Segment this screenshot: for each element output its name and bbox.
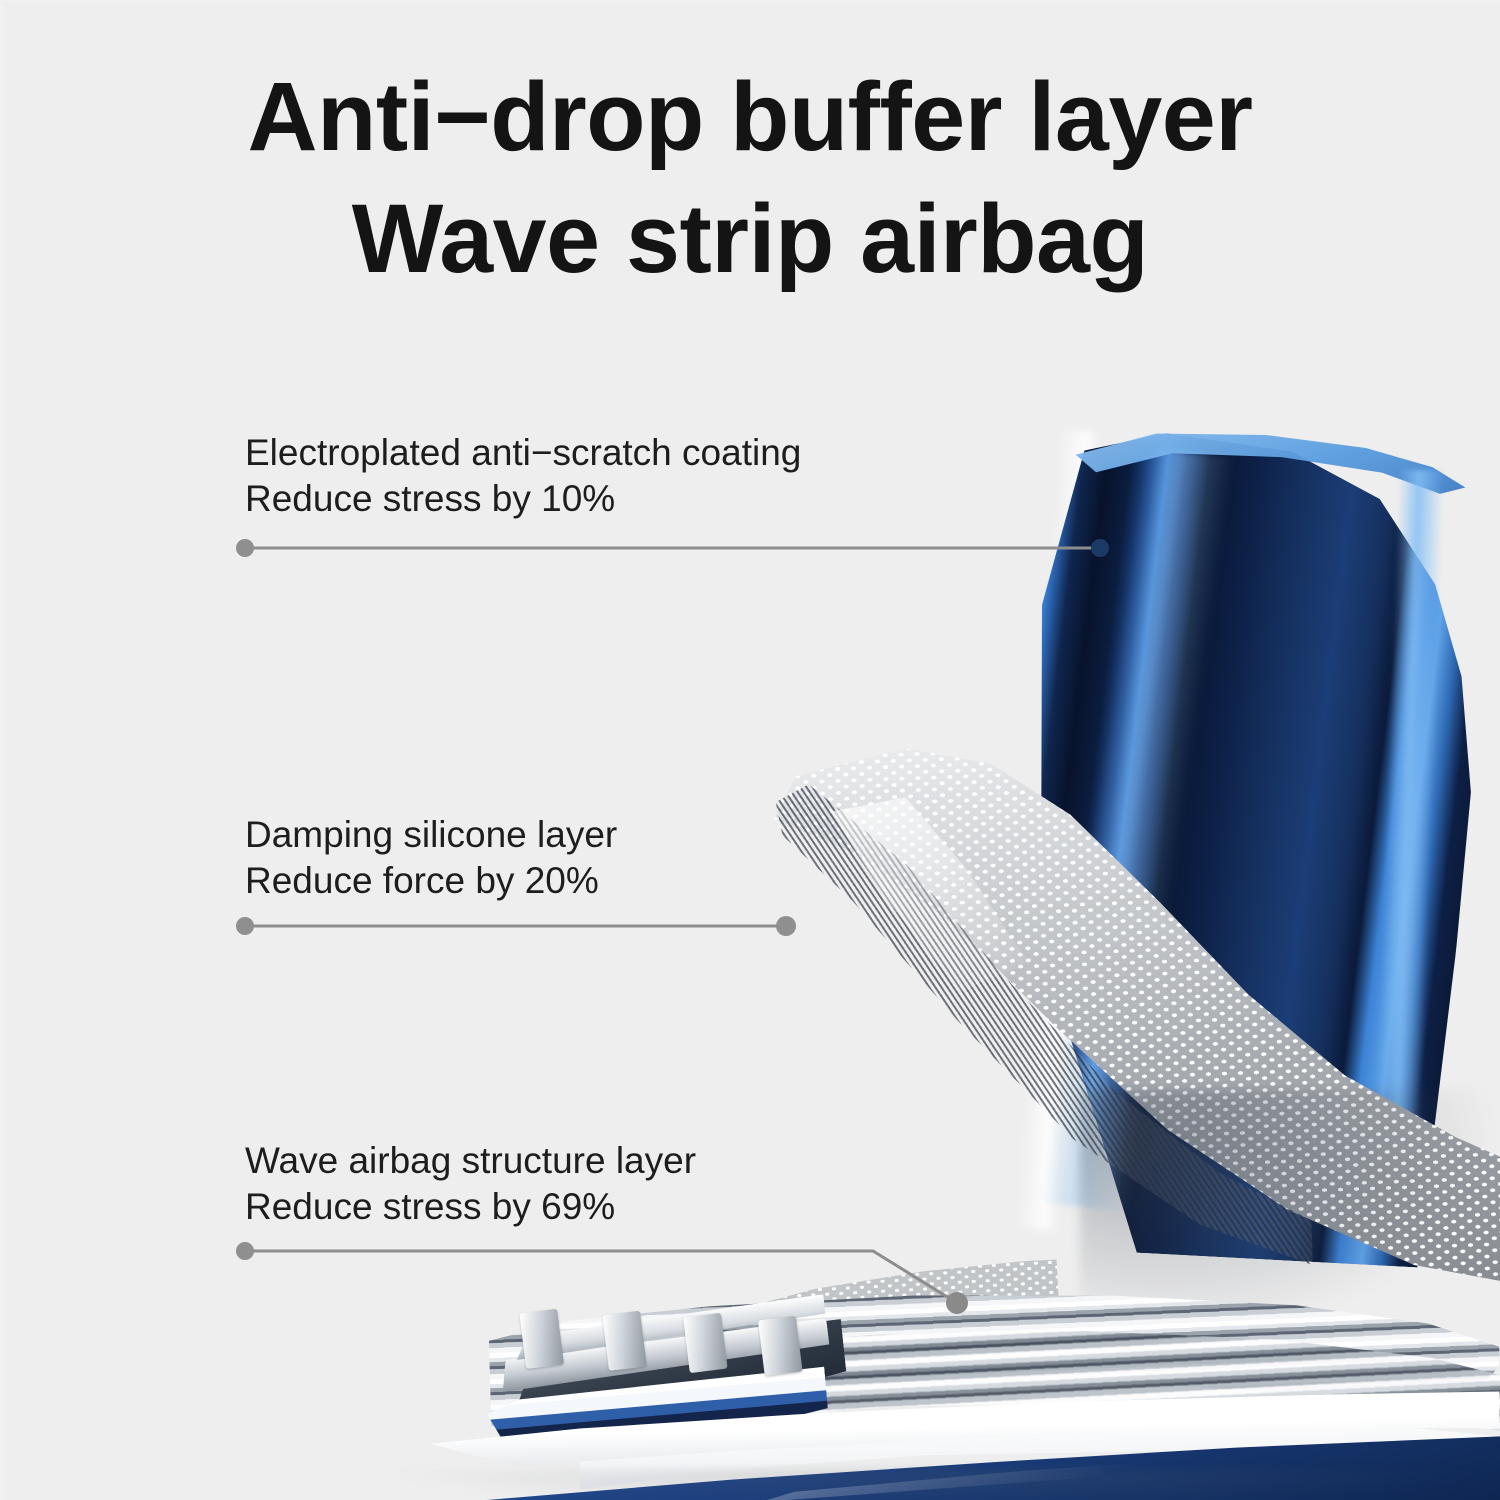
wave-tab [758,1316,803,1376]
page-title-line2: Wave strip airbag [0,178,1500,300]
page-title: Anti−drop buffer layer Wave strip airbag [0,56,1500,300]
callout-2-line1: Damping silicone layer [245,814,617,855]
callout-2-line2: Reduce force by 20% [245,858,617,904]
callout-2-text: Damping silicone layer Reduce force by 2… [245,812,617,904]
callout-electroplated-anti-scratch-coating: Electroplated anti−scratch coating Reduc… [245,430,801,522]
wave-tab [683,1313,728,1373]
callout-1-line2: Reduce stress by 10% [245,476,801,522]
callout-3-line1: Wave airbag structure layer [245,1140,696,1181]
wave-tab [602,1311,647,1371]
callout-wave-airbag-structure-layer: Wave airbag structure layer Reduce stres… [245,1138,696,1230]
wave-tab [519,1309,564,1369]
page-title-line1: Anti−drop buffer layer [248,62,1253,171]
callout-1-line1: Electroplated anti−scratch coating [245,432,801,473]
callout-1-text: Electroplated anti−scratch coating Reduc… [245,430,801,522]
callout-3-line2: Reduce stress by 69% [245,1184,696,1230]
callout-3-text: Wave airbag structure layer Reduce stres… [245,1138,696,1230]
callout-damping-silicone-layer: Damping silicone layer Reduce force by 2… [245,812,617,904]
product-feature-graphic: Anti−drop buffer layer Wave strip airbag… [0,0,1500,1500]
ground-shadow [380,1470,1500,1500]
